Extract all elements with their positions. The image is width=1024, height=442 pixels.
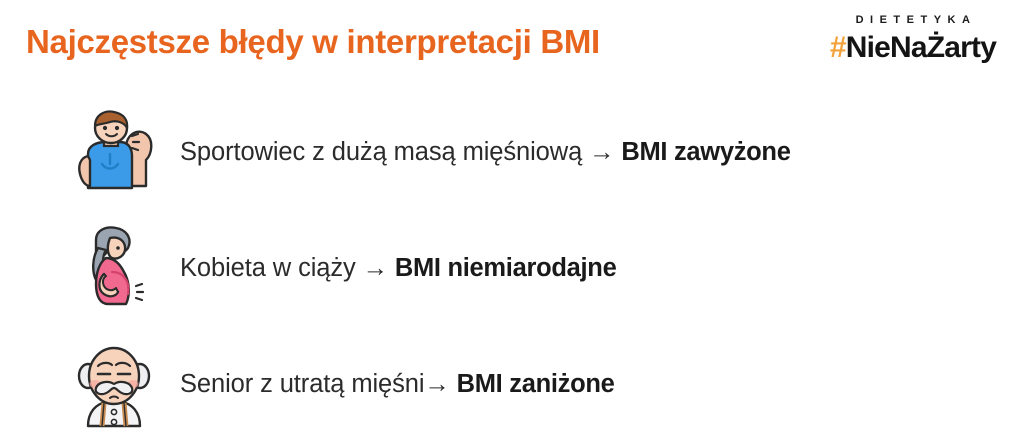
bullet-row: Sportowiec z dużą masą mięśniową → BMI z… xyxy=(0,102,1024,202)
flexing-bicep-man-icon xyxy=(66,108,162,196)
bullet-rows: Sportowiec z dużą masą mięśniową → BMI z… xyxy=(0,96,1024,442)
pregnant-woman-icon xyxy=(66,224,162,312)
bullet-conclusion: BMI zaniżone xyxy=(450,368,615,400)
page-title: Najczęstsze błędy w interpretacji BMI xyxy=(26,22,600,62)
bullet-row-text: Sportowiec z dużą masą mięśniową → BMI z… xyxy=(180,102,791,202)
bullet-row-text: Senior z utratą mięśni→ BMI zaniżone xyxy=(180,334,615,434)
older-man-icon xyxy=(66,340,162,428)
brand-wordmark: #NieNaŻarty xyxy=(820,31,1006,65)
hash-icon: # xyxy=(830,31,846,64)
bullet-description: Senior z utratą mięśni xyxy=(180,368,424,400)
brand-wordmark-text: NieNaŻarty xyxy=(846,31,996,64)
bullet-row-text: Kobieta w ciąży → BMI niemiarodajne xyxy=(180,218,616,318)
bullet-description: Sportowiec z dużą masą mięśniową xyxy=(180,136,589,168)
bullet-row: Senior z utratą mięśni→ BMI zaniżone xyxy=(0,334,1024,434)
slide-canvas: Najczęstsze błędy w interpretacji BMI DI… xyxy=(0,0,1024,442)
arrow-icon: → xyxy=(424,368,449,400)
brand-kicker: DIETETYKA xyxy=(820,14,1006,27)
bullet-description: Kobieta w ciąży xyxy=(180,252,363,284)
bullet-conclusion: BMI niemiarodajne xyxy=(388,252,616,284)
brand-logo: DIETETYKA #NieNaŻarty xyxy=(820,14,1006,65)
bullet-conclusion: BMI zawyżone xyxy=(615,136,791,168)
arrow-icon: → xyxy=(363,252,388,284)
slide-header: Najczęstsze błędy w interpretacji BMI DI… xyxy=(0,0,1024,96)
bullet-row: Kobieta w ciąży → BMI niemiarodajne xyxy=(0,218,1024,318)
arrow-icon: → xyxy=(589,136,614,168)
